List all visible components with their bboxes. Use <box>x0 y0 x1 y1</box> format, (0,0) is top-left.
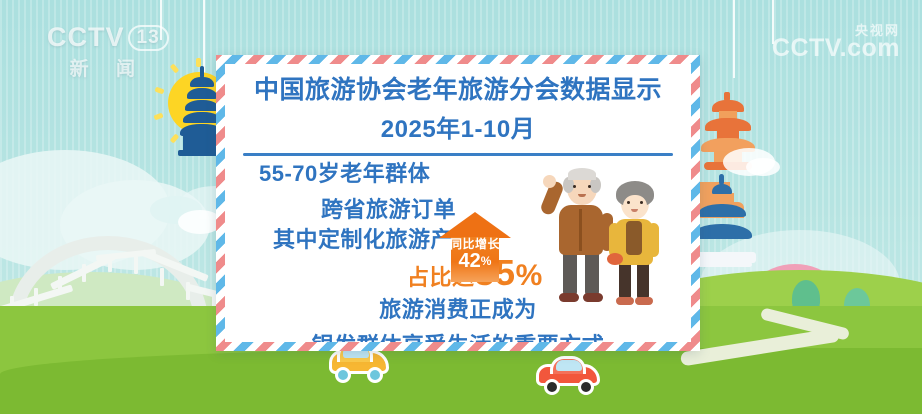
page-subtitle: 2025年1-10月 <box>225 109 691 144</box>
grass-shadow <box>0 348 922 414</box>
stat-customized-unit: % <box>516 259 543 293</box>
hanging-string <box>733 0 735 78</box>
cctv-channel-name: 新 闻 <box>47 54 169 81</box>
badge-value-wrap: 42% <box>448 250 502 273</box>
conclusion-line2: 银发群体享受生活的重要方式 <box>225 328 691 342</box>
elderly-couple-illustration <box>557 165 677 325</box>
page-title: 中国旅游协会老年旅游分会数据显示 <box>225 76 691 105</box>
cctv-com-watermark: 央视网 CCTV.com <box>772 20 900 63</box>
temple-of-heaven-icon <box>694 182 744 218</box>
badge-unit: % <box>481 254 492 268</box>
cctv-com-main: CCTV.com <box>772 34 900 62</box>
cloud-icon <box>746 158 780 176</box>
red-car-icon <box>534 356 602 398</box>
cctv13-logo: CCTV13 新 闻 <box>47 22 169 81</box>
cctv-channel-number: 13 <box>128 25 169 51</box>
badge-value: 42 <box>459 250 481 272</box>
cctv-wordmark: CCTV <box>47 22 125 52</box>
hanging-string <box>203 0 205 74</box>
broadcast-graphic-stage: 中国旅游协会老年旅游分会数据显示 2025年1-10月 55-70岁老年群体 跨… <box>0 0 922 414</box>
